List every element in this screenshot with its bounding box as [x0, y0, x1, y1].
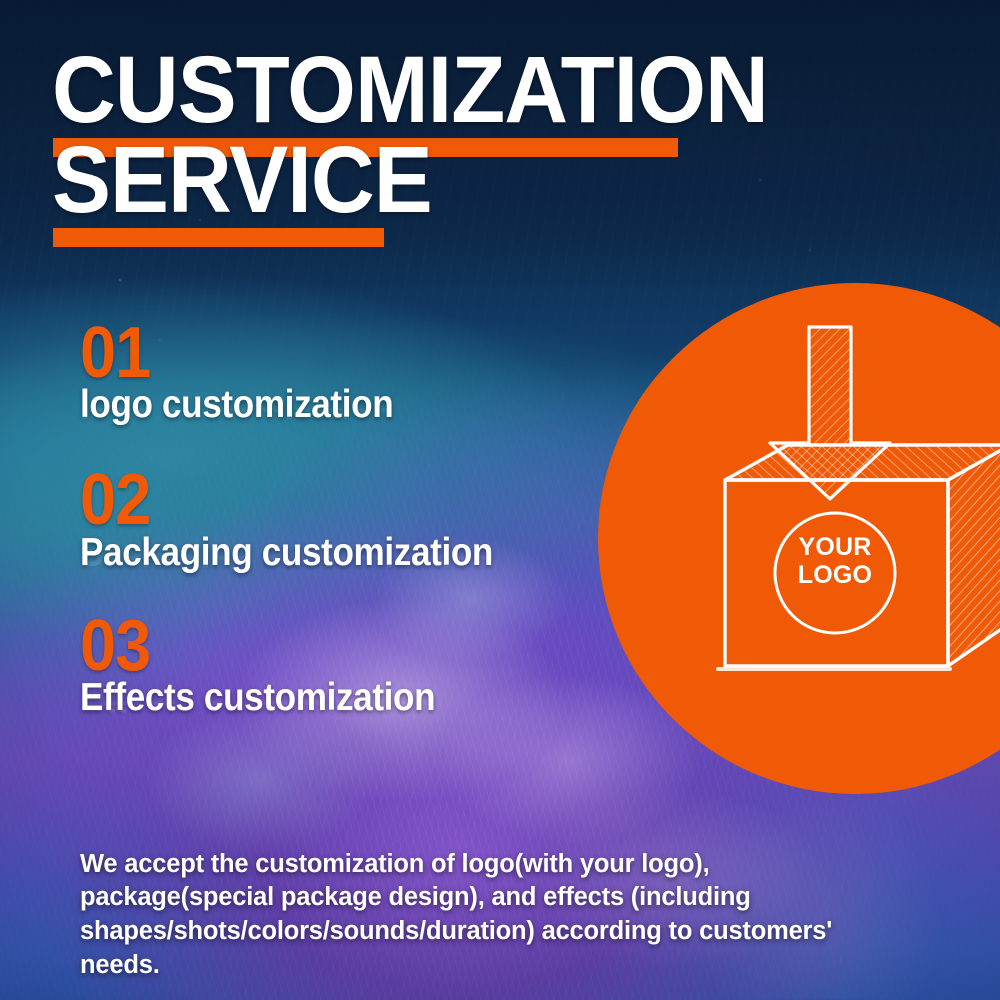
headline-text-2: SERVICE: [52, 134, 722, 227]
feature-number: 03: [80, 615, 638, 678]
logo-line-2: LOGO: [775, 561, 895, 589]
feature-label-wrap: logo customization logo customization: [80, 385, 700, 427]
feature-label: Effects customization: [80, 678, 638, 718]
feature-label-wrap: Effects customization Effects customizat…: [80, 678, 700, 720]
feature-label-wrap: Packaging customization Packaging custom…: [80, 533, 700, 575]
box-right-face: [948, 445, 1000, 666]
feature-number: 01: [80, 322, 638, 385]
description-paragraph: We accept the customization of logo(with…: [80, 848, 870, 984]
logo-line-1: YOUR: [775, 533, 895, 561]
feature-label: Packaging customization: [80, 533, 638, 573]
promo-poster: CUSTOMIZATION SERVICE 01 logo customizat…: [0, 0, 1000, 1000]
page-title: CUSTOMIZATION SERVICE: [52, 44, 772, 227]
feature-label: logo customization: [80, 385, 638, 425]
logo-placeholder-text: YOUR LOGO: [775, 533, 895, 589]
headline-line-2: SERVICE: [52, 134, 772, 227]
headline-line-1: CUSTOMIZATION: [52, 44, 772, 137]
headline-text-1: CUSTOMIZATION: [52, 44, 722, 137]
feature-number: 02: [80, 469, 638, 532]
